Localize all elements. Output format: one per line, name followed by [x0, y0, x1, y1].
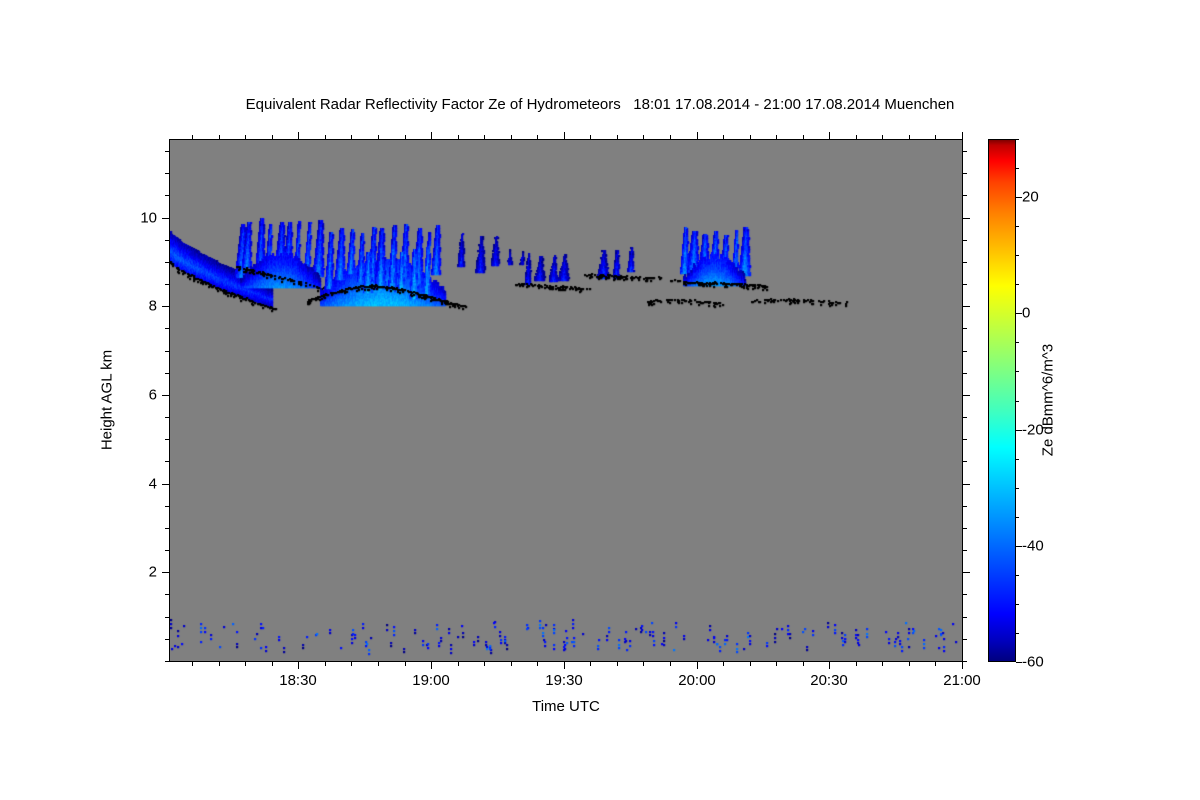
- y-minor-tick: [165, 639, 169, 640]
- colorbar-minor-tick: [1016, 139, 1019, 140]
- x-minor-tick: [192, 662, 193, 666]
- y-minor-tick-right: [963, 506, 967, 507]
- x-major-tick: [962, 662, 963, 669]
- colorbar-tick-label: 0: [1022, 305, 1030, 322]
- y-minor-tick: [165, 461, 169, 462]
- plot-area[interactable]: [169, 139, 963, 662]
- y-minor-tick: [165, 661, 169, 662]
- x-minor-tick: [405, 662, 406, 666]
- y-minor-tick: [165, 373, 169, 374]
- y-minor-tick-right: [963, 240, 967, 241]
- y-minor-tick-right: [963, 617, 967, 618]
- x-major-tick: [697, 662, 698, 669]
- y-minor-tick: [165, 328, 169, 329]
- x-minor-tick-top: [935, 135, 936, 139]
- colorbar-minor-tick: [1016, 371, 1019, 372]
- y-minor-tick-right: [963, 262, 967, 263]
- y-minor-tick: [165, 550, 169, 551]
- x-minor-tick-top: [511, 135, 512, 139]
- colorbar-minor-tick: [1016, 255, 1019, 256]
- y-tick-label: 4: [0, 476, 157, 493]
- x-major-tick: [564, 662, 565, 669]
- x-minor-tick-top: [245, 135, 246, 139]
- y-minor-tick: [165, 528, 169, 529]
- x-minor-tick-top: [643, 135, 644, 139]
- x-minor-tick-top: [617, 135, 618, 139]
- chart-title: Equivalent Radar Reflectivity Factor Ze …: [0, 96, 1200, 113]
- colorbar-minor-tick: [1016, 342, 1019, 343]
- x-major-tick-top: [697, 132, 698, 139]
- y-minor-tick-right: [963, 284, 967, 285]
- x-minor-tick-top: [484, 135, 485, 139]
- x-minor-tick-top: [882, 135, 883, 139]
- x-minor-tick: [484, 662, 485, 666]
- y-major-tick-right: [963, 306, 970, 307]
- x-minor-tick: [590, 662, 591, 666]
- x-minor-tick: [272, 662, 273, 666]
- x-major-tick: [298, 662, 299, 669]
- x-minor-tick: [776, 662, 777, 666]
- y-minor-tick-right: [963, 351, 967, 352]
- y-major-tick: [162, 218, 169, 219]
- y-tick-label: 6: [0, 387, 157, 404]
- x-major-tick-top: [829, 132, 830, 139]
- x-minor-tick: [325, 662, 326, 666]
- x-major-tick-top: [564, 132, 565, 139]
- x-tick-label: 20:00: [678, 672, 716, 689]
- y-minor-tick: [165, 617, 169, 618]
- x-minor-tick-top: [458, 135, 459, 139]
- x-minor-tick: [909, 662, 910, 666]
- colorbar-minor-tick: [1016, 284, 1019, 285]
- colorbar-tick-label: -60: [1022, 654, 1044, 671]
- radar-reflectivity-heatmap: [170, 140, 962, 661]
- figure-canvas: Equivalent Radar Reflectivity Factor Ze …: [0, 0, 1200, 800]
- y-major-tick-right: [963, 218, 970, 219]
- colorbar-minor-tick: [1016, 517, 1019, 518]
- x-minor-tick-top: [590, 135, 591, 139]
- colorbar-label: Ze dBmm^6/m^3: [1040, 344, 1057, 456]
- colorbar-minor-tick: [1016, 488, 1019, 489]
- x-tick-label: 19:00: [412, 672, 450, 689]
- x-minor-tick: [511, 662, 512, 666]
- y-tick-label: 10: [0, 210, 157, 227]
- y-minor-tick: [165, 195, 169, 196]
- colorbar-tick-label: -40: [1022, 538, 1044, 555]
- y-major-tick-right: [963, 572, 970, 573]
- y-tick-label: 8: [0, 298, 157, 315]
- y-minor-tick-right: [963, 173, 967, 174]
- x-minor-tick-top: [856, 135, 857, 139]
- colorbar[interactable]: [988, 139, 1016, 662]
- x-minor-tick-top: [803, 135, 804, 139]
- x-tick-label: 19:30: [545, 672, 583, 689]
- x-axis-label: Time UTC: [532, 698, 600, 715]
- x-minor-tick-top: [272, 135, 273, 139]
- y-minor-tick: [165, 284, 169, 285]
- y-minor-tick-right: [963, 661, 967, 662]
- y-minor-tick-right: [963, 151, 967, 152]
- y-minor-tick-right: [963, 639, 967, 640]
- x-minor-tick: [935, 662, 936, 666]
- colorbar-minor-tick: [1016, 168, 1019, 169]
- x-minor-tick: [803, 662, 804, 666]
- x-minor-tick-top: [192, 135, 193, 139]
- x-minor-tick-top: [219, 135, 220, 139]
- colorbar-tick-label: -20: [1022, 422, 1044, 439]
- y-minor-tick: [165, 262, 169, 263]
- y-minor-tick-right: [963, 195, 967, 196]
- y-minor-tick-right: [963, 373, 967, 374]
- x-minor-tick: [643, 662, 644, 666]
- x-minor-tick: [670, 662, 671, 666]
- y-major-tick: [162, 484, 169, 485]
- x-minor-tick-top: [909, 135, 910, 139]
- y-minor-tick: [165, 417, 169, 418]
- x-minor-tick-top: [670, 135, 671, 139]
- x-minor-tick: [351, 662, 352, 666]
- x-major-tick-top: [431, 132, 432, 139]
- x-minor-tick-top: [325, 135, 326, 139]
- colorbar-minor-tick: [1016, 575, 1019, 576]
- x-minor-tick-top: [723, 135, 724, 139]
- x-major-tick: [829, 662, 830, 669]
- y-major-tick: [162, 395, 169, 396]
- y-minor-tick: [165, 351, 169, 352]
- x-tick-label: 18:30: [279, 672, 317, 689]
- x-minor-tick: [856, 662, 857, 666]
- x-tick-label: 21:00: [943, 672, 981, 689]
- x-minor-tick-top: [750, 135, 751, 139]
- x-major-tick-top: [962, 132, 963, 139]
- colorbar-tick-label: 20: [1022, 189, 1039, 206]
- y-major-tick-right: [963, 395, 970, 396]
- y-major-tick-right: [963, 484, 970, 485]
- x-minor-tick: [458, 662, 459, 666]
- y-minor-tick: [165, 151, 169, 152]
- x-minor-tick-top: [378, 135, 379, 139]
- y-minor-tick-right: [963, 439, 967, 440]
- colorbar-minor-tick: [1016, 459, 1019, 460]
- x-minor-tick-top: [537, 135, 538, 139]
- x-minor-tick: [617, 662, 618, 666]
- y-minor-tick-right: [963, 528, 967, 529]
- x-major-tick-top: [298, 132, 299, 139]
- y-minor-tick: [165, 439, 169, 440]
- x-minor-tick: [750, 662, 751, 666]
- x-minor-tick: [882, 662, 883, 666]
- y-major-tick: [162, 306, 169, 307]
- x-minor-tick-top: [405, 135, 406, 139]
- y-tick-label: 2: [0, 564, 157, 581]
- x-minor-tick: [723, 662, 724, 666]
- y-minor-tick: [165, 240, 169, 241]
- y-minor-tick-right: [963, 461, 967, 462]
- x-minor-tick-top: [351, 135, 352, 139]
- y-minor-tick-right: [963, 550, 967, 551]
- x-minor-tick-top: [776, 135, 777, 139]
- x-minor-tick: [219, 662, 220, 666]
- colorbar-minor-tick: [1016, 401, 1019, 402]
- colorbar-minor-tick: [1016, 226, 1019, 227]
- y-minor-tick: [165, 594, 169, 595]
- x-minor-tick: [378, 662, 379, 666]
- x-major-tick: [431, 662, 432, 669]
- y-minor-tick-right: [963, 417, 967, 418]
- x-minor-tick: [245, 662, 246, 666]
- y-minor-tick-right: [963, 594, 967, 595]
- colorbar-minor-tick: [1016, 633, 1019, 634]
- y-major-tick: [162, 572, 169, 573]
- colorbar-minor-tick: [1016, 604, 1019, 605]
- x-minor-tick: [537, 662, 538, 666]
- y-minor-tick: [165, 173, 169, 174]
- x-tick-label: 20:30: [810, 672, 848, 689]
- y-minor-tick: [165, 506, 169, 507]
- y-minor-tick-right: [963, 328, 967, 329]
